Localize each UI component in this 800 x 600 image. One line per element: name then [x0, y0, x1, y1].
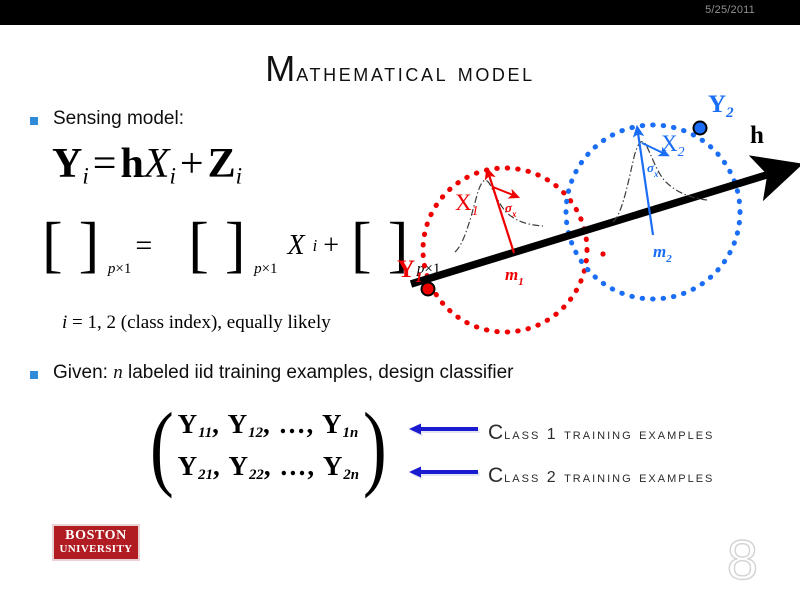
row2-sym-1: Y: [178, 451, 199, 481]
legend1-rest: lass 1 training examples: [504, 426, 714, 443]
class1-line-mark: [600, 251, 605, 256]
matrix-x-sub: i: [313, 236, 318, 256]
matrix-rows: Y11, Y12, …, Y1n Y21, Y22, …, Y2n: [178, 404, 359, 488]
legend-label-class1: Class 1 training examples: [488, 421, 714, 445]
bracket-left-dim: p×1: [108, 261, 131, 278]
matrix-right-paren: ): [363, 409, 387, 483]
bracket-right-open: [: [351, 218, 372, 274]
eq-h-symbol: h: [120, 141, 143, 187]
row1-sub-2: 12: [248, 425, 263, 441]
page-number: 8: [727, 532, 758, 588]
eq-plus: +: [176, 141, 208, 187]
eq-lhs-sub: i: [82, 162, 88, 188]
given-prefix: Given:: [53, 362, 113, 383]
legend-arrow-class2-icon: [408, 466, 480, 480]
logo-line-1: BOSTON: [65, 529, 127, 544]
dim-p-2: p: [254, 261, 262, 277]
eq-z-sub: i: [236, 162, 242, 188]
matrix-left-paren: (: [150, 409, 174, 483]
page-title: Mathematical model: [0, 48, 800, 90]
matrix-plus: +: [323, 230, 339, 262]
legend-arrow-class1-icon: [408, 423, 480, 437]
equation-matrix-dimensions: [] p×1 = [] p×1 Xi + [] p×1: [40, 218, 410, 274]
signal-geometry-figure: Y1 X1 σx m1 Y2 X2 σx m2 h: [395, 85, 800, 385]
eq-lhs-symbol: Y: [52, 141, 82, 187]
title-rest: athematical model: [296, 59, 535, 87]
eq-z-symbol: Z: [208, 141, 236, 187]
bracket-left-close: ]: [79, 218, 100, 274]
legend2-rest: lass 2 training examples: [504, 469, 714, 486]
bullet-square-icon: [30, 117, 38, 125]
eq-x-sub: i: [169, 162, 175, 188]
matrix-equals: =: [135, 229, 152, 263]
row1-sym-3: Y: [322, 409, 343, 439]
label-X1: X1: [455, 190, 479, 219]
label-sigma-x-class2: σx: [647, 160, 659, 179]
bracket-mid-close: ]: [225, 218, 246, 274]
label-h: h: [750, 122, 764, 149]
slide-canvas: 5/25/2011 Mathematical model Sensing mod…: [0, 0, 800, 600]
table-row: Y11, Y12, …, Y1n: [178, 404, 359, 446]
row1-ellipsis: …: [279, 409, 307, 439]
class1-observation-point: [422, 283, 435, 296]
header-bar: [0, 0, 800, 25]
dim-times-2: ×: [262, 261, 270, 277]
row2-sub-3: 2n: [343, 467, 359, 483]
bracket-mid-dim: p×1: [254, 261, 277, 278]
bracket-left-open: [: [42, 218, 63, 274]
dim-times-1: ×: [115, 261, 123, 277]
label-m2: m2: [653, 242, 672, 265]
class2-mean-vector: [638, 133, 653, 235]
row2-sub-2: 22: [249, 467, 264, 483]
row1-sub-1: 11: [198, 425, 212, 441]
label-X2: X2: [661, 131, 685, 160]
bullet-sensing-model: Sensing model:: [30, 108, 184, 130]
header-date: 5/25/2011: [705, 4, 755, 16]
row2-ellipsis: …: [279, 451, 307, 481]
legend1-cap: C: [488, 421, 504, 444]
legend2-cap: C: [488, 464, 504, 487]
label-m1: m1: [505, 265, 524, 288]
bracket-group-h: [] p×1: [188, 218, 245, 274]
label-Y2: Y2: [708, 91, 734, 121]
row1-sym-1: Y: [178, 409, 199, 439]
row2-sub-1: 21: [198, 467, 213, 483]
row2-sym-2: Y: [228, 451, 249, 481]
eq-x-symbol: X: [144, 141, 170, 187]
row2-sym-3: Y: [323, 451, 344, 481]
row1-sym-2: Y: [228, 409, 249, 439]
dim-one-1: 1: [124, 261, 132, 277]
legend-label-class2: Class 2 training examples: [488, 464, 714, 488]
row1-sub-3: 1n: [343, 425, 359, 441]
table-row: Y21, Y22, …, Y2n: [178, 446, 359, 488]
training-set-matrix: ( Y11, Y12, …, Y1n Y21, Y22, …, Y2n ): [146, 404, 391, 488]
dim-one-2: 1: [270, 261, 278, 277]
class-index-note: i = 1, 2 (class index), equally likely: [62, 312, 331, 334]
matrix-x-symbol: X: [288, 230, 305, 262]
given-italic-n: n: [113, 362, 123, 383]
bullet-square-icon-2: [30, 371, 38, 379]
class2-observation-point: [694, 122, 707, 135]
class-index-rest: = 1, 2 (class index), equally likely: [67, 312, 330, 333]
equation-sensing-model: Yi=hXi+Zi: [52, 140, 242, 189]
eq-equals: =: [89, 141, 121, 187]
title-first-letter: M: [265, 48, 296, 89]
label-Y1: Y1: [397, 256, 423, 286]
bullet-sensing-label: Sensing model:: [53, 108, 184, 130]
logo-line-2: UNIVERSITY: [59, 544, 132, 556]
bracket-mid-open: [: [188, 218, 209, 274]
class2-sigma-arrow: [642, 143, 663, 153]
bracket-group-y: [] p×1: [42, 218, 99, 274]
boston-university-logo: BOSTON UNIVERSITY: [52, 524, 140, 561]
